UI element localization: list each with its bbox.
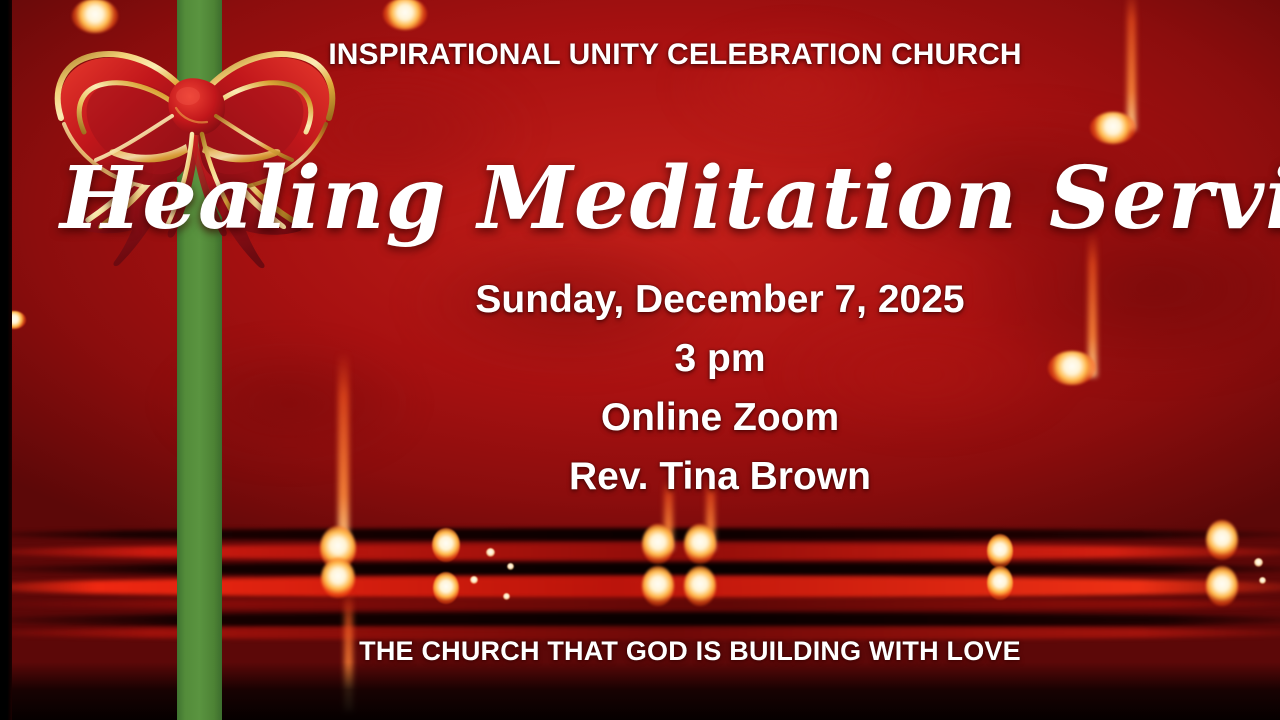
orb-sparkle-1: [486, 548, 495, 557]
orb-bokeh-9: [987, 534, 1013, 568]
service-date: Sunday, December 7, 2025: [160, 278, 1280, 322]
orb-bokeh-12: [1206, 566, 1238, 606]
orb-sparkle-5: [1254, 558, 1263, 567]
christmas-church-flyer: INSPIRATIONAL UNITY CELEBRATION CHURCH H…: [0, 0, 1280, 720]
orb-bokeh-8: [684, 566, 716, 606]
orb-sparkle-2: [507, 563, 514, 570]
organization-name: INSPIRATIONAL UNITY CELEBRATION CHURCH: [70, 38, 1280, 72]
light-trail-center: [338, 352, 349, 552]
service-time: 3 pm: [160, 337, 1280, 381]
orb-sparkle-6: [1259, 577, 1266, 584]
orb-bokeh-3: [432, 528, 460, 562]
orb-sparkle-3: [470, 576, 478, 584]
orb-bokeh-4: [433, 572, 459, 604]
orb-bokeh-10: [987, 566, 1013, 600]
service-location: Online Zoom: [160, 396, 1280, 440]
orb-right-upper: [1090, 112, 1136, 144]
church-tagline: THE CHURCH THAT GOD IS BUILDING WITH LOV…: [100, 636, 1280, 667]
orb-sparkle-4: [503, 593, 510, 600]
orb-bokeh-2: [321, 558, 355, 598]
service-speaker: Rev. Tina Brown: [160, 455, 1280, 499]
orb-bokeh-7: [642, 566, 674, 606]
orb-bokeh-6: [684, 524, 716, 564]
orb-bokeh-11: [1206, 520, 1238, 560]
orb-bokeh-5: [642, 524, 674, 564]
left-black-edge: [0, 0, 12, 720]
service-title: Healing Meditation Service: [60, 148, 1280, 249]
